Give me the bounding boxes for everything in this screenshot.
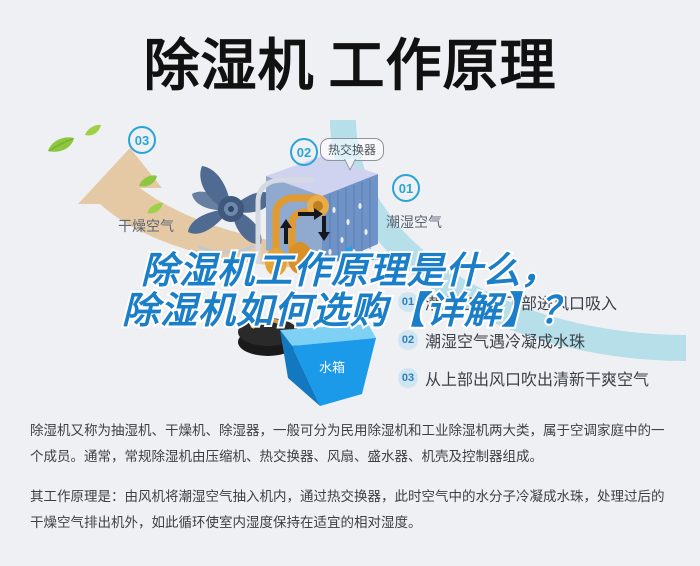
page-root: 除湿机工作原理 [0, 0, 700, 566]
leaf-icon [146, 202, 164, 216]
leaf-icon [138, 174, 158, 189]
title-text: 除湿机工作原理 [144, 21, 557, 102]
step-label: 潮湿空气遇冷凝成水珠 [425, 328, 585, 352]
body-paragraph-2: 其工作原理是：由风机将潮湿空气抽入机内，通过热交换器，此时空气中的水分子冷凝成水… [30, 484, 675, 536]
leaf-icon [46, 135, 76, 155]
diagram-label-dry-air: 干燥空气 [118, 216, 174, 236]
article-body: 除湿机又称为抽湿机、干燥机、除湿器，一般可分为民用除湿机和工业除湿机两大类，属于… [30, 418, 675, 550]
water-tank: 水箱 [258, 320, 388, 410]
step-label: 潮湿空气从下部进风口吸入 [425, 290, 617, 314]
step-label: 从上部出风口吹出清新干爽空气 [425, 366, 649, 390]
body-paragraph-1: 除湿机又称为抽湿机、干燥机、除湿器，一般可分为民用除湿机和工业除湿机两大类，属于… [30, 418, 675, 470]
title-part-1: 除湿机 [144, 34, 315, 97]
step-list: 01 潮湿空气从下部进风口吸入 02 潮湿空气遇冷凝成水珠 03 从上部出风口吹… [398, 290, 698, 404]
diagram-badge-dry-air: 03 [128, 126, 156, 154]
page-title: 除湿机工作原理 [0, 22, 700, 100]
diagram-label-heat-exchanger: 热交换器 [320, 138, 384, 161]
list-item: 02 潮湿空气遇冷凝成水珠 [398, 328, 698, 352]
step-badge: 03 [398, 368, 418, 388]
step-badge: 02 [398, 330, 418, 350]
step-badge: 01 [398, 292, 418, 312]
leaf-icon [84, 124, 102, 138]
list-item: 01 潮湿空气从下部进风口吸入 [398, 290, 698, 314]
refrigerant-coil [240, 162, 360, 282]
diagram-label-humid-air: 潮湿空气 [386, 212, 442, 232]
title-part-2: 工作原理 [329, 34, 557, 97]
bubble-tail-icon [344, 159, 356, 171]
list-item: 03 从上部出风口吹出清新干爽空气 [398, 366, 698, 390]
svg-text:水箱: 水箱 [319, 360, 345, 375]
diagram-badge-heat-exchanger: 02 [290, 138, 318, 166]
diagram-badge-humid-air: 01 [392, 174, 420, 202]
